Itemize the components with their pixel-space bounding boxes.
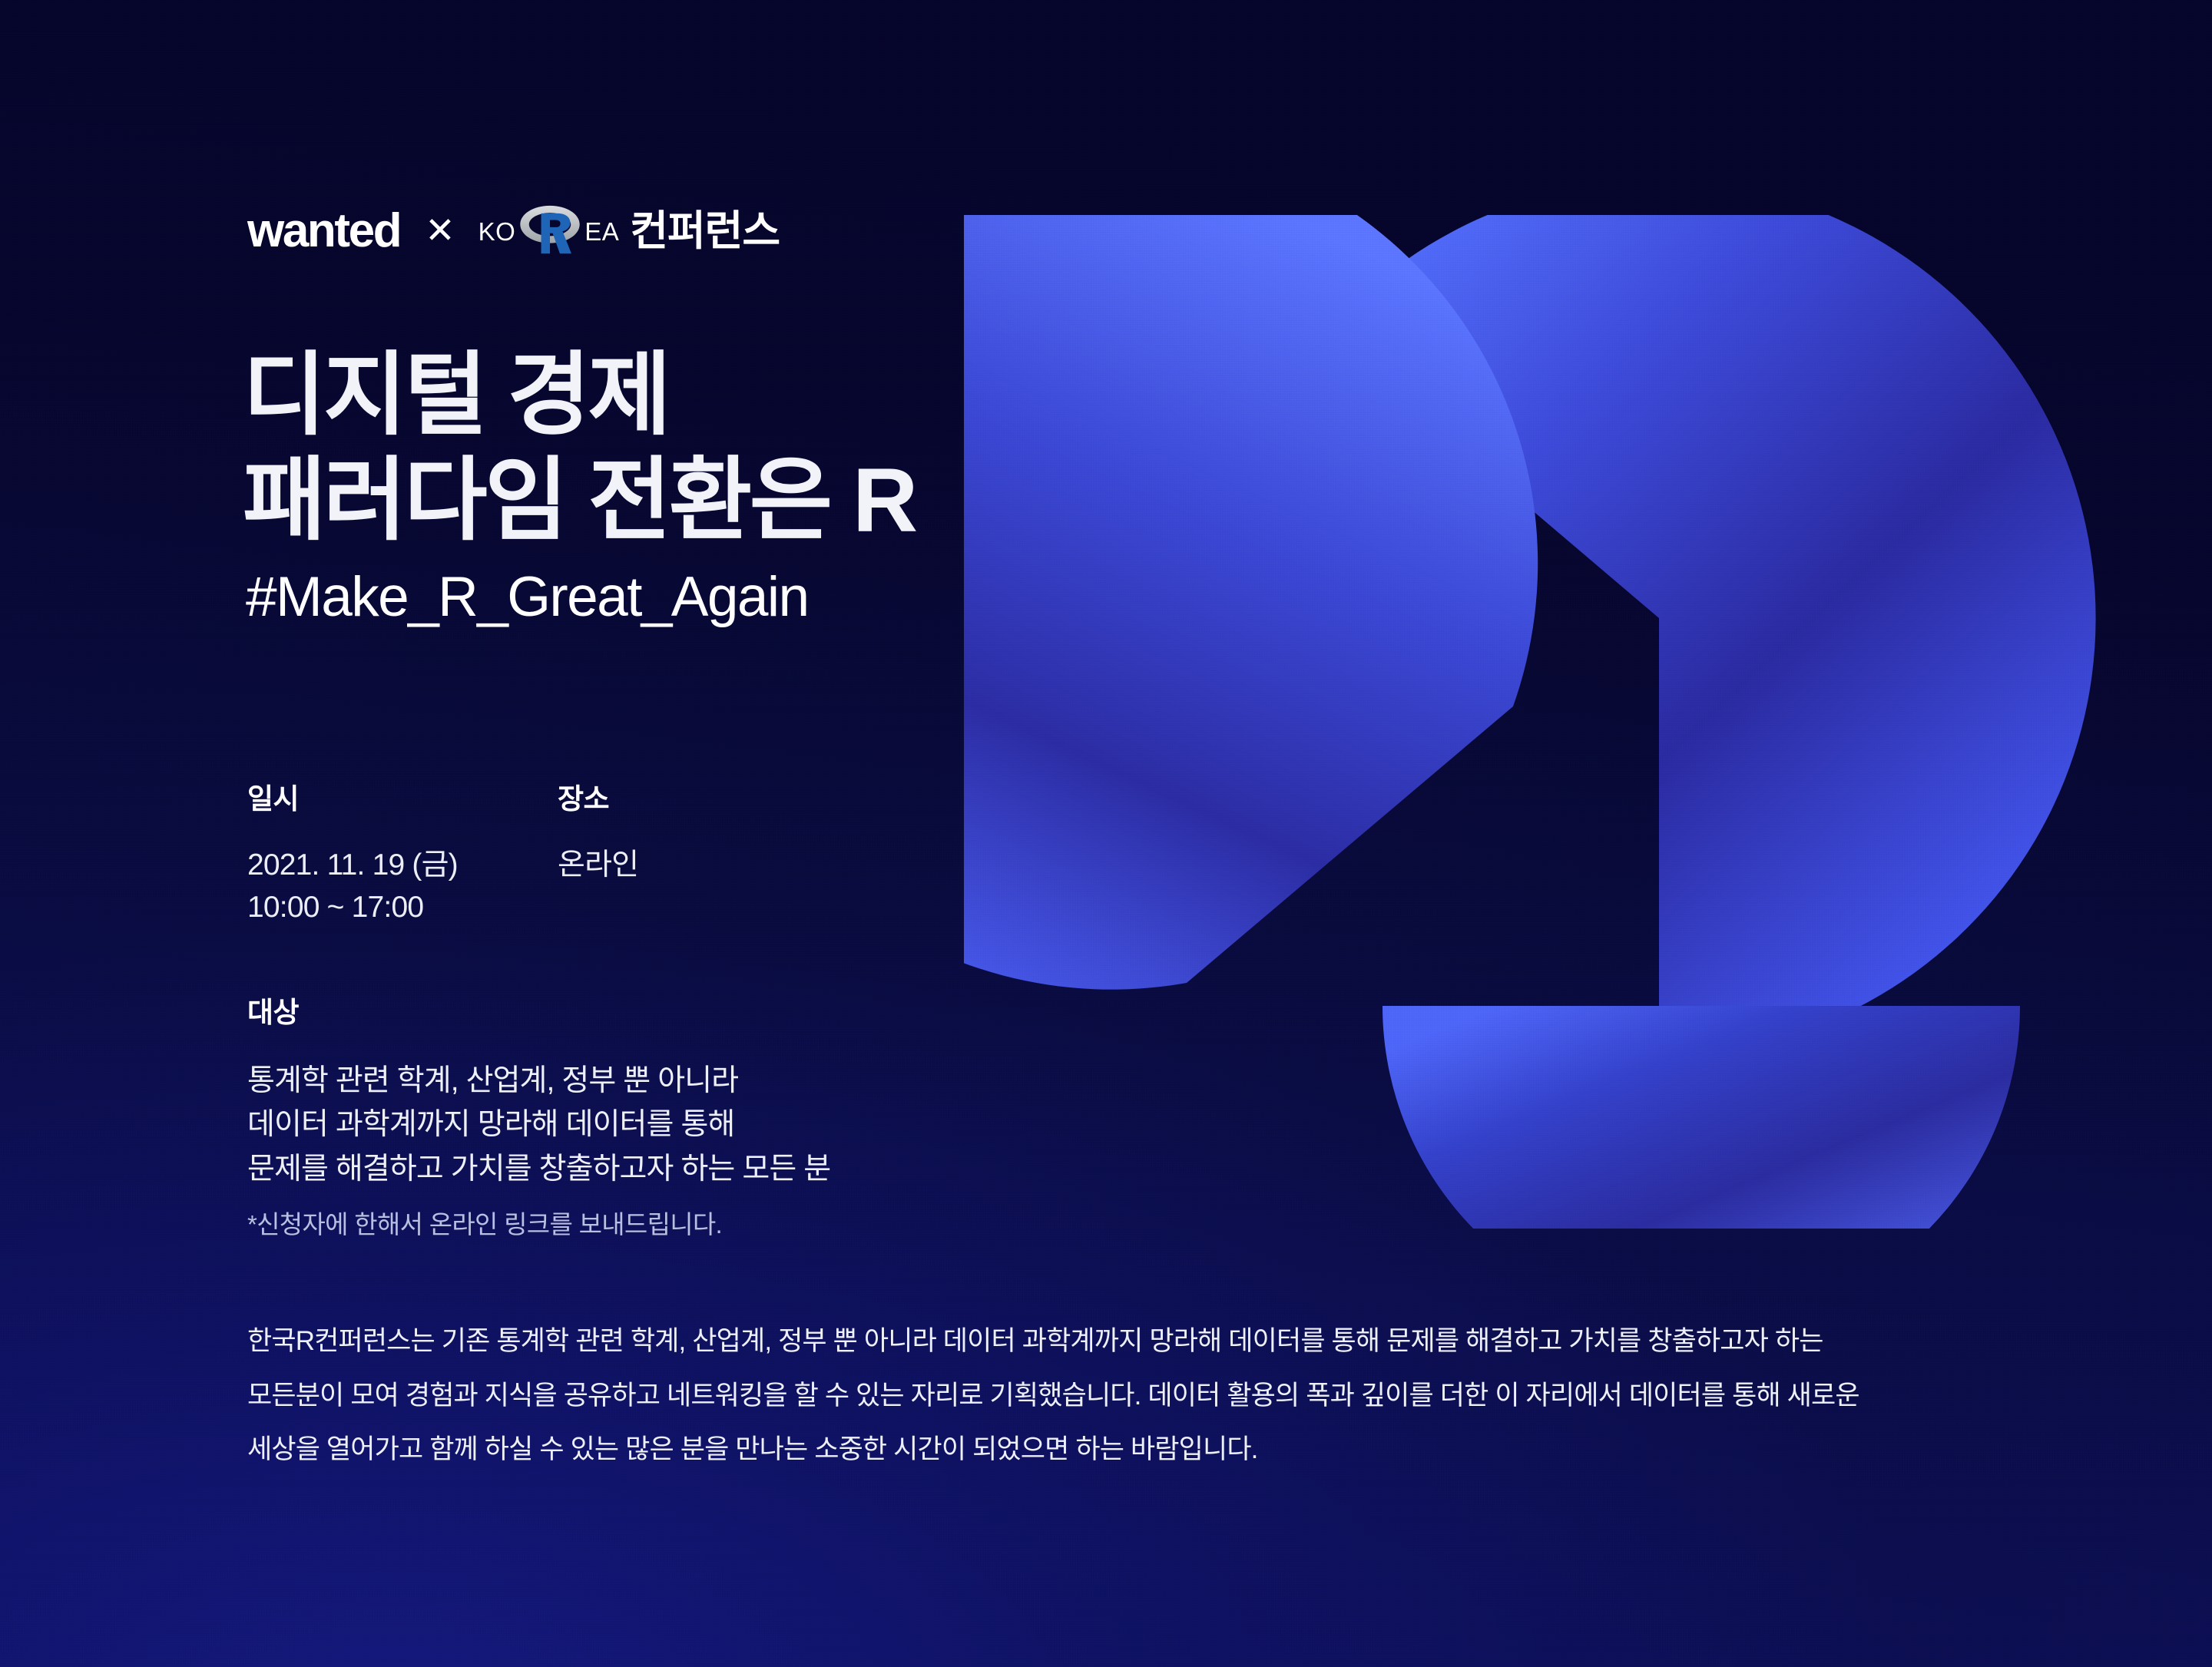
cross-icon: ✕ [425,212,455,248]
korea-suffix-label: EA [584,219,619,244]
korea-prefix-label: KO [478,219,516,244]
date-label: 일시 [247,785,558,813]
event-info: 일시 2021. 11. 19 (금) 10:00 ~ 17:00 장소 온라인 [247,785,868,929]
wanted-logo: wanted [247,207,400,255]
hashtag-subtitle: #Make_R_Great_Again [246,567,809,628]
place-column: 장소 온라인 [558,785,868,929]
description-paragraph: 한국R컨퍼런스는 기존 통계학 관련 학계, 산업계, 정부 뿐 아니라 데이터… [247,1315,1968,1477]
page-title: 디지털 경제 패러다임 전환은 R [243,343,916,554]
audience-label: 대상 [247,998,830,1027]
logo-lockup: wanted ✕ KO EA 컨퍼런스 [247,198,780,264]
audience-block: 대상 통계학 관련 학계, 산업계, 정부 뿐 아니라 데이터 과학계까지 망라… [247,998,830,1191]
registration-note: *신청자에 한해서 온라인 링크를 보내드립니다. [247,1212,722,1237]
conference-label: 컨퍼런스 [630,210,780,252]
date-column: 일시 2021. 11. 19 (금) 10:00 ~ 17:00 [247,785,558,929]
r-logo-icon [517,201,583,256]
place-value: 온라인 [558,844,868,886]
place-label: 장소 [558,785,868,813]
audience-body: 통계학 관련 학계, 산업계, 정부 뿐 아니라 데이터 과학계까지 망라해 데… [247,1059,830,1191]
poster-canvas: wanted ✕ KO EA 컨퍼런스 디지털 경제 패러 [0,0,2212,1667]
content-column: wanted ✕ KO EA 컨퍼런스 디지털 경제 패러 [247,0,1975,1667]
date-value: 2021. 11. 19 (금) 10:00 ~ 17:00 [247,844,558,929]
